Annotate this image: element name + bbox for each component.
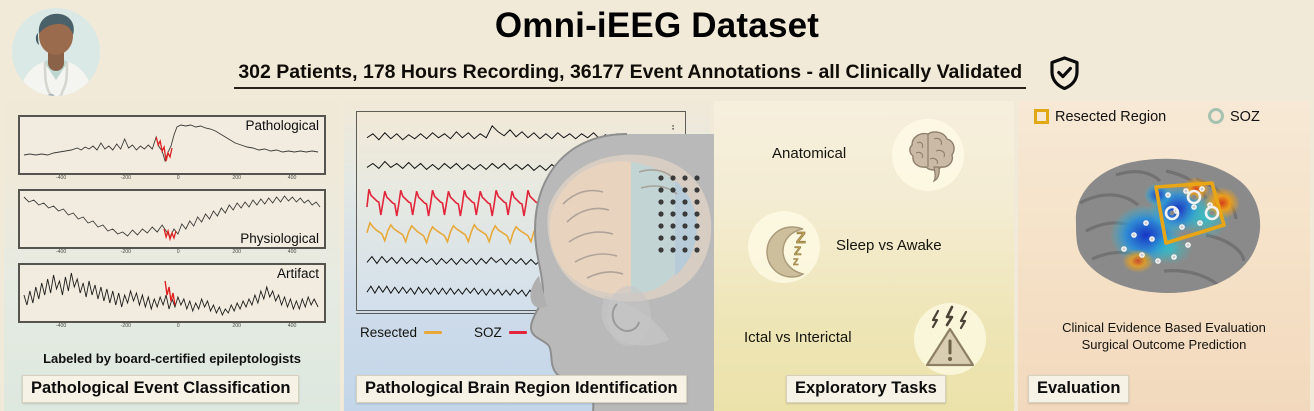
eeg-label-pathological: Pathological [245, 118, 319, 133]
axis-tick: 200 [232, 323, 241, 329]
eeg-card-artifact: Artifact [18, 263, 326, 323]
moon-sleep-icon: Z Z Z [748, 211, 820, 283]
panel-label-exploratory-tasks: Exploratory Tasks [786, 375, 946, 403]
axis-tick: 200 [232, 175, 241, 181]
task-bubble-sleep: Z Z Z [748, 211, 820, 283]
panel-exploratory-tasks: Anatomical Z Z Z Sleep vs Awake [714, 101, 1014, 411]
legend-label-soz: SOZ [1230, 109, 1260, 125]
task-bubble-anatomical [892, 119, 964, 191]
legend-swatch-soz [1208, 108, 1224, 124]
axis-tick: 0 [177, 175, 180, 181]
axis-tick: -400 [56, 175, 66, 181]
axis-tick: 400 [288, 323, 297, 329]
svg-text:Z: Z [793, 257, 799, 267]
task-bubble-ictal [914, 303, 986, 375]
axis-tick: 0 [177, 323, 180, 329]
axis-tick: -400 [56, 323, 66, 329]
eeg-axis-artifact: -400 -200 0 200 400 [18, 323, 326, 335]
head-brain-electrode-grid-icon [509, 126, 724, 411]
page-title: Omni-iEEG Dataset [0, 6, 1314, 46]
legend-item-resected-region: Resected Region [1034, 107, 1166, 127]
brain-heatmap-render-icon [1046, 139, 1284, 309]
svg-text:Z: Z [794, 244, 801, 258]
task-label-sleep-vs-awake: Sleep vs Awake [836, 237, 942, 254]
panel-label-evaluation: Evaluation [1028, 375, 1129, 403]
legend-label-resected: Resected [360, 325, 417, 340]
figure-root: Omni-iEEG Dataset 302 Patients, 178 Hour… [0, 0, 1314, 411]
task-label-ictal-vs-interictal: Ictal vs Interictal [744, 329, 852, 346]
panel-4-caption-line-1: Clinical Evidence Based Evaluation [1018, 319, 1310, 336]
eeg-card-pathological: Pathological [18, 115, 326, 175]
axis-tick: -200 [121, 323, 131, 329]
legend-swatch-resected-region [1034, 109, 1049, 124]
legend-item-resected: Resected [360, 325, 442, 340]
eeg-label-artifact: Artifact [277, 266, 319, 281]
panel-1-caption: Labeled by board-certified epileptologis… [4, 351, 340, 366]
eeg-axis-physiological: -400 -200 0 200 400 [18, 249, 326, 261]
panel-4-caption-line-2: Surgical Outcome Prediction [1018, 336, 1310, 353]
panel-label-pathological-brain-region-identification: Pathological Brain Region Identification [356, 375, 687, 403]
axis-tick: 0 [177, 249, 180, 255]
axis-tick: 400 [288, 175, 297, 181]
task-label-anatomical: Anatomical [772, 145, 846, 162]
panel-pathological-event-classification: Pathological -400 -200 0 200 400 Physiol… [4, 101, 340, 411]
warning-lightning-icon [914, 303, 986, 375]
panel-evaluation: Resected Region SOZ [1018, 101, 1310, 411]
axis-tick: -200 [121, 175, 131, 181]
legend-label-resected-region: Resected Region [1055, 109, 1166, 125]
task-sleep-vs-awake: Z Z Z Sleep vs Awake [728, 211, 998, 283]
axis-tick: -200 [121, 249, 131, 255]
panel-label-pathological-event-classification: Pathological Event Classification [22, 375, 299, 403]
task-anatomical: Anatomical [742, 119, 992, 191]
task-ictal-vs-interictal: Ictal vs Interictal [734, 303, 1004, 375]
axis-tick: -400 [56, 249, 66, 255]
dataset-stats-subtitle: 302 Patients, 178 Hours Recording, 36177… [234, 61, 1026, 89]
legend-item-soz: SOZ [1208, 107, 1260, 127]
axis-tick: 400 [288, 249, 297, 255]
axis-tick: 200 [232, 249, 241, 255]
panel-pathological-brain-region-identification: Resected SOZ Preserved [344, 101, 710, 411]
header: Omni-iEEG Dataset 302 Patients, 178 Hour… [0, 0, 1314, 100]
subtitle-row: 302 Patients, 178 Hours Recording, 36177… [0, 56, 1314, 94]
eeg-axis-pathological: -400 -200 0 200 400 [18, 175, 326, 187]
shield-check-icon [1049, 56, 1080, 90]
eeg-card-physiological: Physiological [18, 189, 326, 249]
brain-icon [892, 119, 964, 191]
panel-4-caption: Clinical Evidence Based Evaluation Surgi… [1018, 319, 1310, 353]
legend-swatch-resected [424, 331, 442, 334]
eeg-label-physiological: Physiological [240, 231, 319, 246]
panel-4-legend: Resected Region SOZ [1028, 107, 1308, 131]
legend-label-soz: SOZ [474, 325, 502, 340]
